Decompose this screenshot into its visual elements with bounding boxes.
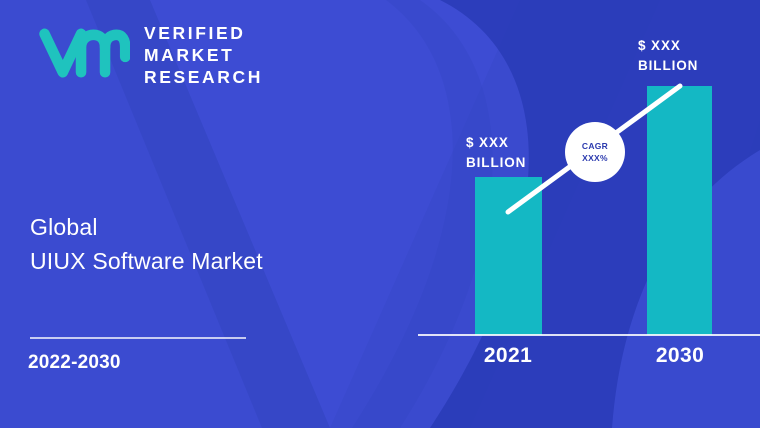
bar-label-2030-unit: BILLION [638,56,698,76]
cagr-label: CAGR [582,141,608,152]
bar-chart: $ XXX BILLION $ XXX BILLION CAGR XXX% 20… [0,0,760,428]
x-axis-line [418,334,760,336]
bar-label-2021-unit: BILLION [466,153,526,173]
bar-label-2021-amount: $ XXX [466,133,526,153]
x-tick-2030: 2030 [630,344,730,368]
market-infographic: VERIFIED MARKET RESEARCH Global UIUX Sof… [0,0,760,428]
x-tick-2021: 2021 [458,344,558,368]
bar-label-2030-amount: $ XXX [638,36,698,56]
bar-label-2030: $ XXX BILLION [638,36,698,77]
bar-label-2021: $ XXX BILLION [466,133,526,174]
cagr-badge: CAGR XXX% [565,122,625,182]
cagr-value: XXX% [582,153,608,164]
